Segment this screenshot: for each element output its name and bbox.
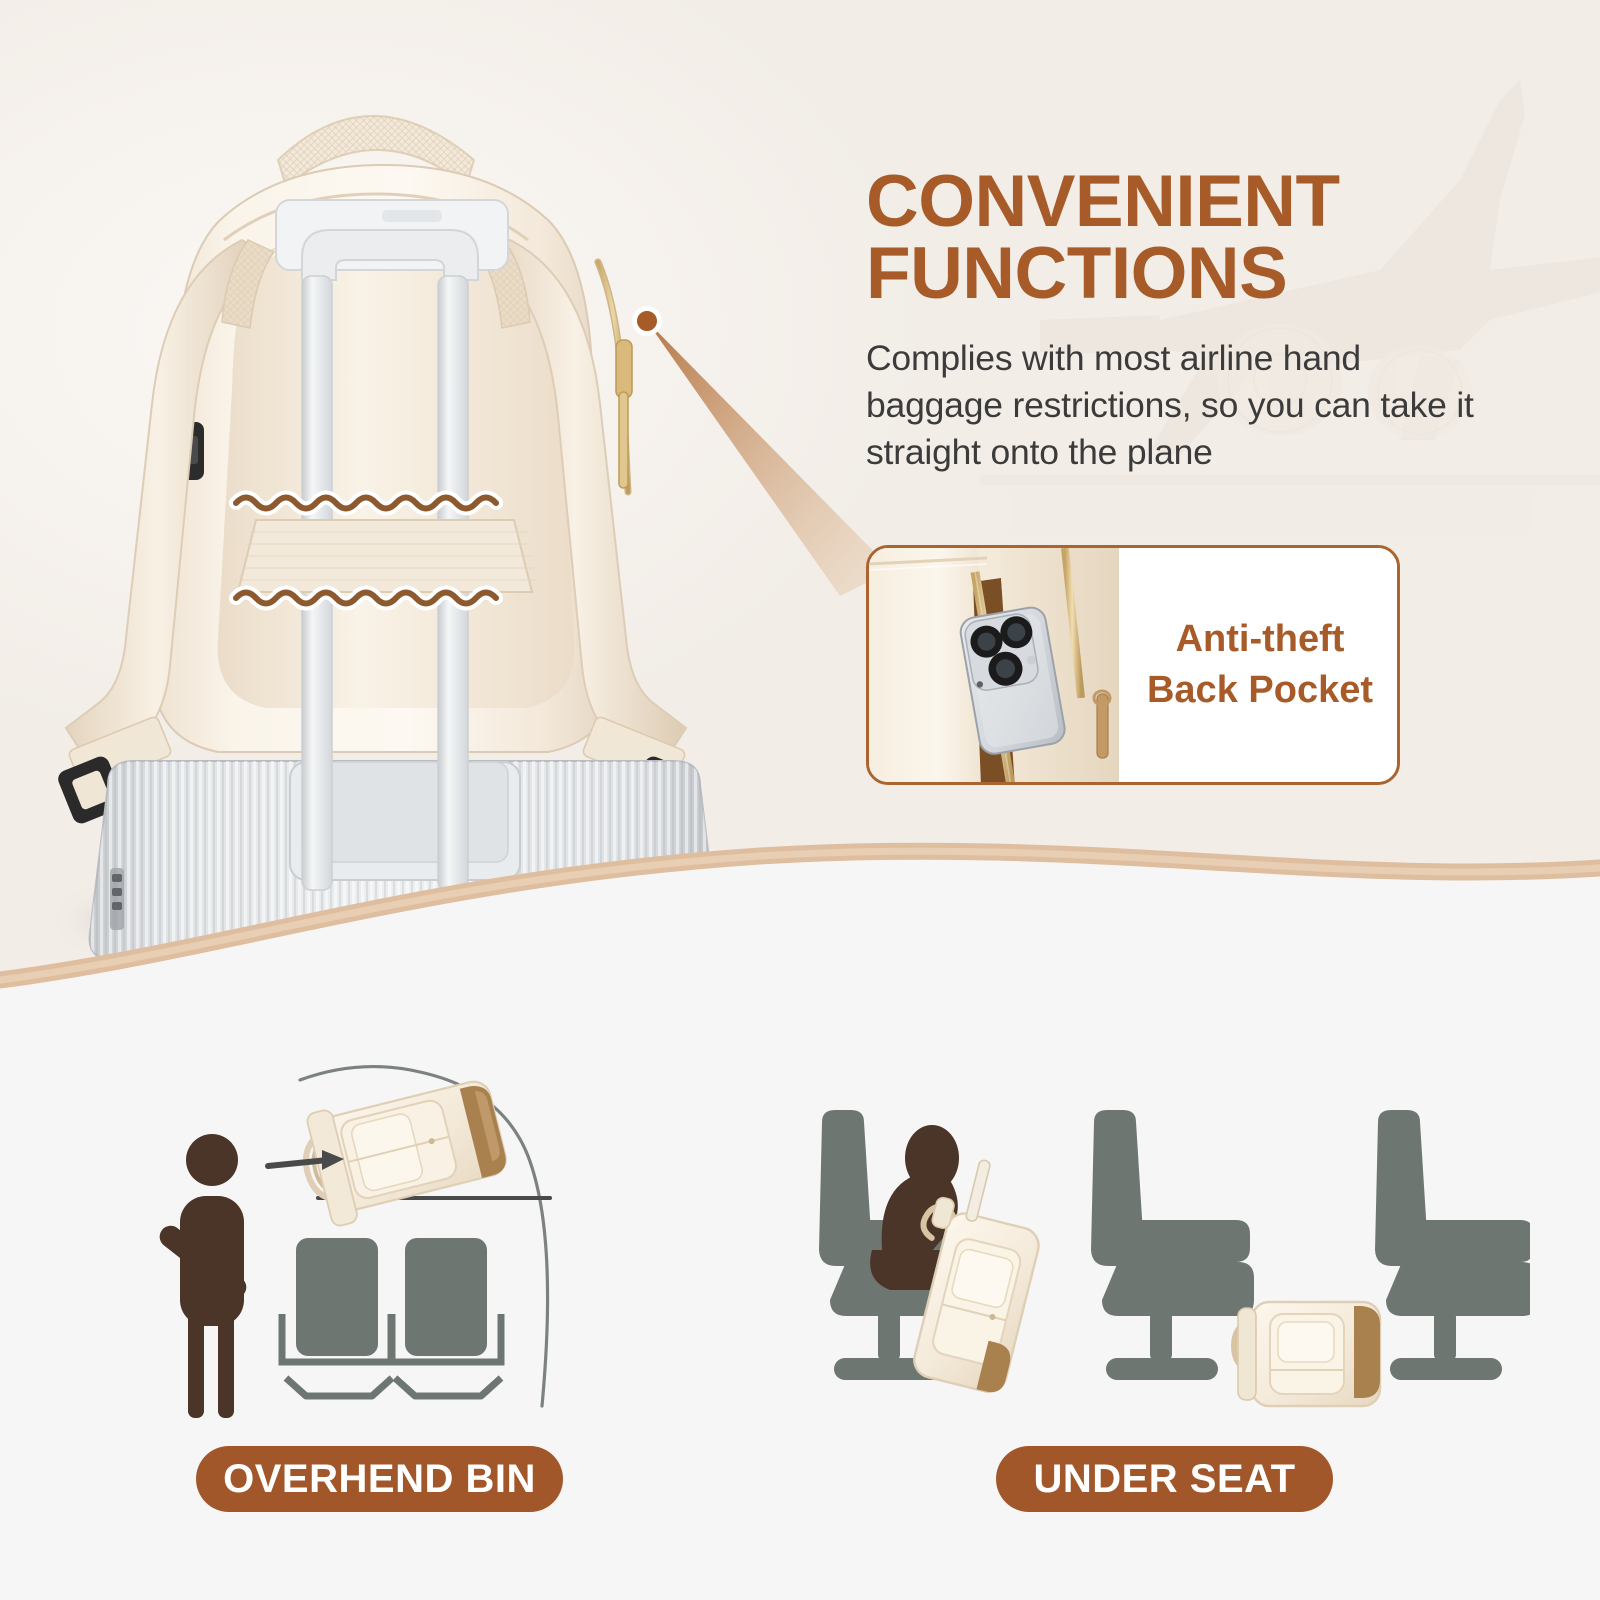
backpack-stowed [1234, 1302, 1380, 1406]
overhead-bin-label-pill[interactable]: OVERHEND BIN [196, 1446, 563, 1512]
subtitle-text: Complies with most airline hand baggage … [866, 335, 1496, 477]
airline-seat [1091, 1110, 1254, 1380]
back-pocket-callout-dot[interactable] [632, 306, 662, 336]
feature-card-label: Anti-theft Back Pocket [1119, 548, 1397, 782]
headline-line-1: CONVENIENT [866, 161, 1340, 242]
airline-seat [1375, 1110, 1530, 1380]
copy-block: CONVENIENT FUNCTIONS Complies with most … [866, 166, 1566, 477]
infographic-canvas: CONVENIENT FUNCTIONS Complies with most … [0, 0, 1600, 1600]
wave-divider [0, 830, 1600, 1000]
top-panel: CONVENIENT FUNCTIONS Complies with most … [0, 0, 1600, 1000]
under-seat-label-pill[interactable]: UNDER SEAT [996, 1446, 1333, 1512]
overhead-bin-illustration [150, 1050, 630, 1430]
feature-label-line-1: Anti-theft [1176, 614, 1345, 665]
under-seat-label-text: UNDER SEAT [1033, 1457, 1295, 1502]
page-title: CONVENIENT FUNCTIONS [866, 166, 1566, 309]
person-figure [155, 1134, 250, 1418]
overhead-bin-label-text: OVERHEND BIN [223, 1457, 536, 1502]
headline-line-2: FUNCTIONS [866, 238, 1566, 310]
back-pocket-photo [869, 548, 1119, 782]
under-seat-illustration [810, 1100, 1530, 1430]
seat-pair [282, 1238, 501, 1396]
anti-theft-feature-card[interactable]: Anti-theft Back Pocket [866, 545, 1400, 785]
feature-label-line-2: Back Pocket [1147, 665, 1373, 716]
